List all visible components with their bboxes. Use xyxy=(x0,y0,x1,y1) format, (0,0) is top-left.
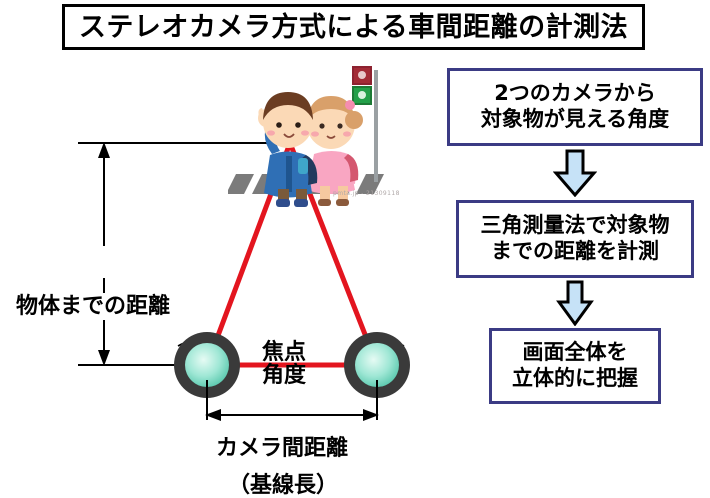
flow-step-2[interactable]: 三角測量法で対象物 までの距離を計測 xyxy=(456,200,694,278)
label-object-distance: 物体までの距離 xyxy=(12,293,174,320)
flow-step-3-line1: 画面全体を xyxy=(523,340,628,366)
dimension-arrow-down xyxy=(98,278,110,366)
down-arrow-icon xyxy=(556,280,594,326)
dimension-arrow-up xyxy=(98,142,110,246)
boy-figure xyxy=(258,92,317,207)
page-title-box: ステレオカメラ方式による車間距離の計測法 xyxy=(62,4,645,50)
flow-step-3-line2: 立体的に把握 xyxy=(512,366,638,392)
flow-step-1[interactable]: 2つのカメラから 対象物が見える角度 xyxy=(447,68,703,146)
illustration-watermark: pmta.jp - 21309118 xyxy=(333,190,400,197)
page-title: ステレオカメラ方式による車間距離の計測法 xyxy=(79,14,628,41)
flow-step-1-line2: 対象物が見える角度 xyxy=(481,107,669,133)
process-flow: 2つのカメラから 対象物が見える角度 三角測量法で対象物 までの距離を計測 画面… xyxy=(444,68,706,404)
flow-arrow-1 xyxy=(444,146,706,200)
flow-arrow-2 xyxy=(444,278,706,328)
label-baseline-sub: （基線長） xyxy=(228,474,338,497)
label-focal-angle: 焦点 角度 xyxy=(262,341,306,387)
label-focal-angle-line2: 角度 xyxy=(262,364,306,387)
flow-step-2-line1: 三角測量法で対象物 xyxy=(481,213,670,239)
baseline-dimension-arrow xyxy=(205,409,379,421)
flow-step-2-line2: までの距離を計測 xyxy=(491,239,659,265)
flow-step-3[interactable]: 画面全体を 立体的に把握 xyxy=(489,328,661,404)
label-focal-angle-line1: 焦点 xyxy=(262,341,306,364)
flow-step-1-line1: 2つのカメラから xyxy=(494,81,656,107)
label-camera-baseline: カメラ間距離 xyxy=(214,437,350,460)
down-arrow-icon xyxy=(553,149,597,197)
